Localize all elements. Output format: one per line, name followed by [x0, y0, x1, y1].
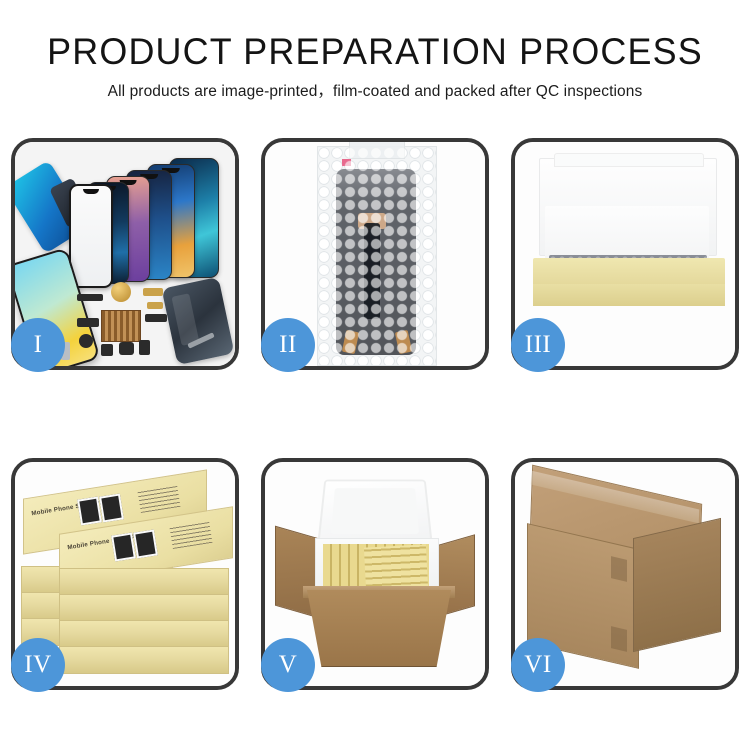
spare-part-icon	[77, 294, 103, 301]
box-window-icon	[111, 533, 136, 562]
page-subtitle: All products are image-printed，film-coat…	[0, 81, 750, 103]
step-badge-4: IV	[11, 638, 65, 692]
step-panel-3[interactable]: III	[511, 138, 739, 370]
spare-part-icon	[77, 318, 99, 327]
retail-box-icon	[59, 568, 229, 596]
step-panel-4[interactable]: Mobile Phone Spare Parts Mobile Phone Sp…	[11, 458, 239, 690]
step-badge-2: II	[261, 318, 315, 372]
notch-icon	[83, 189, 99, 194]
step-panel-6[interactable]: VI	[511, 458, 739, 690]
carton-side-icon	[633, 518, 721, 652]
connector-grid-icon	[101, 310, 141, 342]
bubble-wrap-bag	[317, 146, 437, 366]
spare-part-icon	[101, 344, 113, 356]
page-title: PRODUCT PREPARATION PROCESS	[11, 30, 739, 74]
step-badge-1: I	[11, 318, 65, 372]
step-panel-1[interactable]: I	[11, 138, 239, 370]
carton-tab-icon	[611, 556, 627, 582]
process-steps-grid: I II	[0, 138, 750, 690]
page-header: PRODUCT PREPARATION PROCESS All products…	[0, 0, 750, 103]
box-window-icon	[133, 530, 158, 559]
box-tray-front-icon	[533, 284, 725, 306]
retail-box-icon	[59, 594, 229, 622]
vibrator-motor-icon	[111, 282, 131, 302]
carton-tab-icon	[611, 626, 627, 652]
foam-box-lid-icon	[317, 480, 433, 545]
bubble-texture-overlay	[318, 147, 436, 365]
step-badge-5: V	[261, 638, 315, 692]
retail-box-icon	[59, 620, 229, 648]
phone-screen-fan	[73, 156, 233, 281]
spare-part-icon	[147, 302, 163, 309]
retail-box-icon	[59, 646, 229, 674]
step-panel-2[interactable]: II	[261, 138, 489, 370]
step-badge-3: III	[511, 318, 565, 372]
tempered-glass-icon	[69, 184, 113, 288]
step-panel-5[interactable]: V	[261, 458, 489, 690]
box-window-icon	[99, 494, 124, 523]
spare-part-icon	[119, 342, 134, 355]
spare-part-icon	[139, 340, 150, 355]
carton-body-icon	[307, 590, 451, 667]
spare-part-icon	[79, 334, 93, 348]
box-window-icon	[77, 497, 102, 526]
step-badge-6: VI	[511, 638, 565, 692]
spare-part-icon	[143, 288, 163, 296]
retail-boxes-stack-icon	[364, 544, 428, 591]
spare-part-icon	[145, 314, 167, 322]
